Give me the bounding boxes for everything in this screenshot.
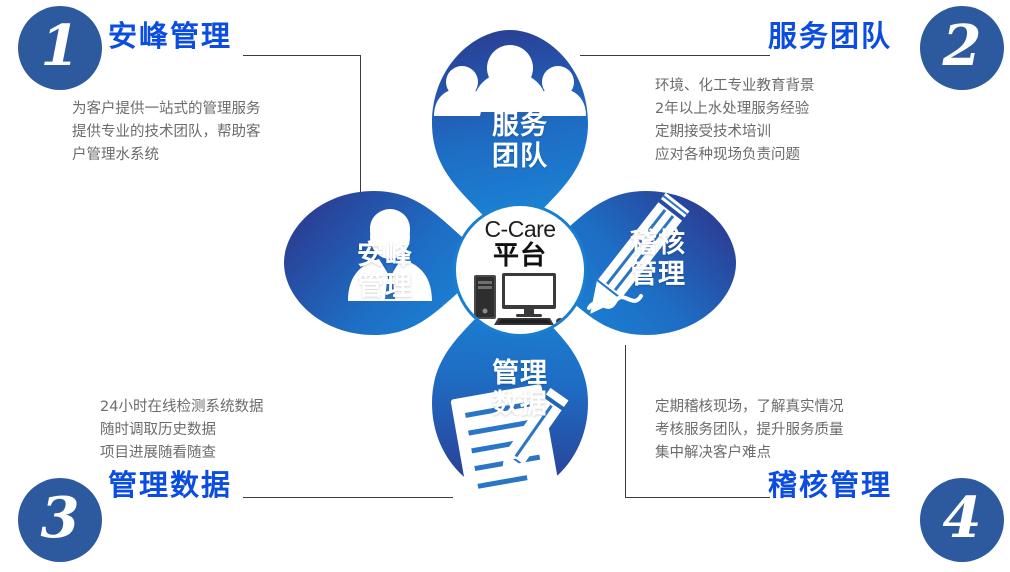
desktop-computer-icon <box>472 271 568 331</box>
petal-label-top-line2: 团队 <box>480 141 560 172</box>
section-body-2-line-4: 应对各种现场负责问题 <box>655 144 815 167</box>
section-body-2-line-2: 2年以上水处理服务经验 <box>655 98 815 121</box>
section-body-4-line-2: 考核服务团队，提升服务质量 <box>655 419 844 442</box>
section-body-4: 定期稽核现场，了解真实情况 考核服务团队，提升服务质量 集中解决客户难点 <box>655 396 844 465</box>
petal-label-right-line1: 稽核 <box>618 228 698 259</box>
infographic-canvas: 服务 团队 稽核 管理 管理 数据 安峰 管理 C-Care 平台 <box>0 0 1010 572</box>
section-number-1: 1 <box>41 18 80 74</box>
section-title-4: 稽核管理 <box>768 471 892 500</box>
section-number-badge-2: 2 <box>920 6 1004 90</box>
group-of-people-icon <box>434 45 586 116</box>
section-body-4-line-1: 定期稽核现场，了解真实情况 <box>655 396 844 419</box>
section-body-1-line-3: 户管理水系统 <box>72 144 261 167</box>
hub-subtitle: 平台 <box>493 243 547 269</box>
petal-label-right: 稽核 管理 <box>618 228 698 290</box>
center-hub: C-Care 平台 <box>453 203 587 337</box>
petal-label-left-line2: 管理 <box>345 271 425 302</box>
section-number-4: 4 <box>943 490 982 546</box>
petal-label-bottom-line1: 管理 <box>480 358 560 389</box>
section-body-3-line-3: 项目进展随看随查 <box>100 442 263 465</box>
section-body-1: 为客户提供一站式的管理服务 提供专业的技术团队，帮助客 户管理水系统 <box>72 98 261 167</box>
petal-label-top-line1: 服务 <box>480 110 560 141</box>
section-title-1: 安峰管理 <box>108 22 232 51</box>
hub-title: C-Care <box>484 218 555 241</box>
petal-label-top: 服务 团队 <box>480 110 560 172</box>
section-number-badge-3: 3 <box>18 478 102 562</box>
petal-label-bottom: 管理 数据 <box>480 358 560 420</box>
section-body-2-line-3: 定期接受技术培训 <box>655 121 815 144</box>
section-body-1-line-1: 为客户提供一站式的管理服务 <box>72 98 261 121</box>
petal-label-right-line2: 管理 <box>618 259 698 290</box>
section-number-badge-1: 1 <box>18 6 102 90</box>
section-number-badge-4: 4 <box>920 478 1004 562</box>
petal-label-bottom-line2: 数据 <box>480 389 560 420</box>
section-body-2-line-1: 环境、化工专业教育背景 <box>655 75 815 98</box>
section-number-3: 3 <box>41 490 80 546</box>
section-body-3-line-1: 24小时在线检测系统数据 <box>100 396 263 419</box>
section-body-3: 24小时在线检测系统数据 随时调取历史数据 项目进展随看随查 <box>100 396 263 465</box>
section-body-4-line-3: 集中解决客户难点 <box>655 442 844 465</box>
section-body-1-line-2: 提供专业的技术团队，帮助客 <box>72 121 261 144</box>
section-title-3: 管理数据 <box>108 471 232 500</box>
section-body-3-line-2: 随时调取历史数据 <box>100 419 263 442</box>
section-body-2: 环境、化工专业教育背景 2年以上水处理服务经验 定期接受技术培训 应对各种现场负… <box>655 75 815 167</box>
petal-label-left: 安峰 管理 <box>345 240 425 302</box>
section-number-2: 2 <box>943 18 982 74</box>
petal-label-left-line1: 安峰 <box>345 240 425 271</box>
section-title-2: 服务团队 <box>768 22 892 51</box>
